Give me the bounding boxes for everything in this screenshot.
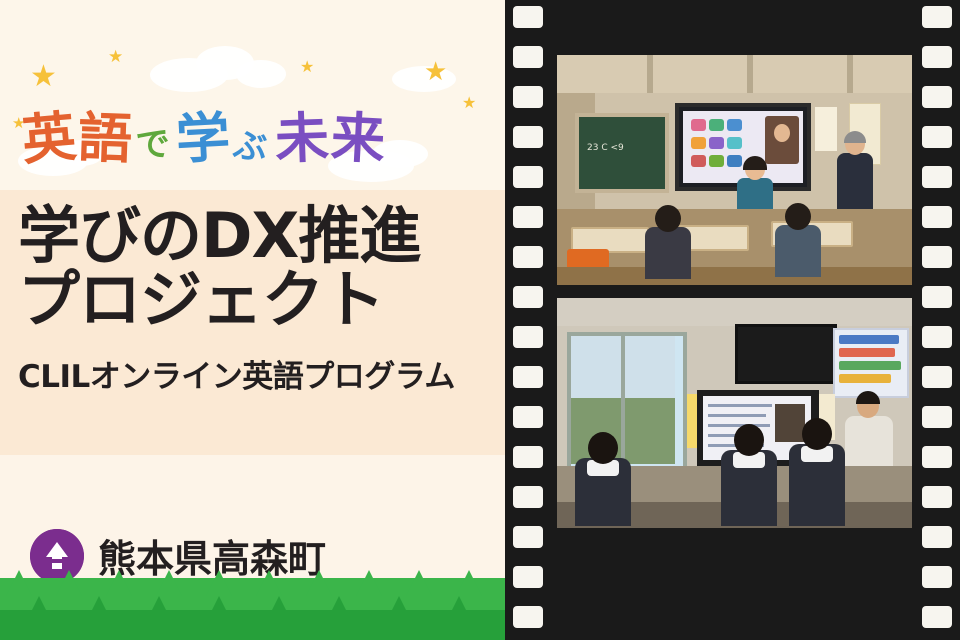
- film-perforation: [922, 6, 952, 28]
- board-row: [839, 361, 901, 370]
- slide-icon: [691, 155, 706, 167]
- slide-icon: [691, 119, 706, 131]
- student-figure: [575, 432, 631, 528]
- film-strip: 23 C <9: [505, 0, 960, 640]
- video-call-participant: [765, 116, 799, 164]
- headline-char-4: 学: [175, 111, 232, 168]
- grass-blade-dark: [448, 596, 470, 618]
- headline-char-5: ぶ: [232, 129, 268, 165]
- headline-char-3: で: [135, 127, 171, 163]
- student-head: [734, 424, 764, 456]
- film-perforation: [513, 326, 543, 348]
- board-row: [839, 374, 891, 383]
- star-icon: ★: [108, 48, 123, 65]
- student-body: [645, 227, 691, 279]
- page-title-line-2: プロジェクト: [18, 268, 508, 332]
- student-head: [802, 418, 832, 450]
- page-title-line-1: 学びのDX推進: [18, 204, 508, 268]
- slide-icon: [727, 137, 742, 149]
- board-row: [839, 348, 895, 357]
- board-row: [839, 335, 899, 344]
- student-head: [655, 205, 681, 232]
- handwriting-headline: 英 語 で 学 ぶ 未 来: [22, 86, 492, 166]
- film-perforation: [513, 526, 543, 548]
- slide-icon: [709, 155, 724, 167]
- film-perforation: [513, 406, 543, 428]
- student-body: [775, 225, 821, 277]
- slide-icon: [709, 137, 724, 149]
- grass-blade-dark: [28, 596, 50, 618]
- film-perforation: [513, 206, 543, 228]
- film-perforation: [513, 246, 543, 268]
- grass-blade: [406, 570, 432, 596]
- seated-student-figure: [645, 205, 691, 281]
- film-perforation: [922, 286, 952, 308]
- film-perforation: [922, 326, 952, 348]
- grass-blade: [6, 570, 32, 596]
- headline-char-1: 英: [20, 110, 79, 169]
- slide-icon: [691, 137, 706, 149]
- slide-text-line: [708, 414, 766, 417]
- film-perforation: [922, 166, 952, 188]
- film-perforation: [922, 206, 952, 228]
- film-perforation: [513, 366, 543, 388]
- film-perforation: [922, 606, 952, 628]
- film-perforation: [513, 606, 543, 628]
- film-perforation: [922, 406, 952, 428]
- film-perforations-left: [513, 0, 543, 640]
- cloud-shape: [236, 60, 286, 88]
- photo-junior-high-classroom: 中学校の教室で大型モニターを使った英語プログラムの様子: [557, 298, 912, 528]
- film-perforation: [922, 46, 952, 68]
- grass-blade-dark: [388, 596, 410, 618]
- headline-char-2: 語: [77, 111, 133, 167]
- film-perforation: [513, 566, 543, 588]
- chalkboard-text: 23 C <9: [587, 143, 624, 153]
- information-board: [833, 328, 909, 398]
- ceiling: [557, 55, 912, 93]
- grass-blade: [206, 570, 232, 596]
- film-perforation: [513, 126, 543, 148]
- slide-icon: [727, 119, 742, 131]
- grass-blade: [56, 570, 82, 596]
- grass-blade: [356, 570, 382, 596]
- photo-elementary-classroom: 23 C <9: [557, 55, 912, 285]
- film-perforation: [513, 166, 543, 188]
- grass-blade: [156, 570, 182, 596]
- ceiling-beam: [847, 55, 853, 93]
- film-perforation: [922, 446, 952, 468]
- film-perforation: [513, 446, 543, 468]
- headline-char-6: 未: [274, 111, 330, 167]
- grass-blade: [106, 570, 132, 596]
- chalkboard: 23 C <9: [575, 113, 669, 193]
- student-hair: [743, 156, 767, 170]
- poster-root: ★ ★ ★ ★ ★ ★ 英 語 で 学 ぶ 未 来 学びのDX推進 プロジェクト…: [0, 0, 960, 640]
- photo-2-scene: [557, 298, 912, 528]
- headline-char-7: 来: [330, 111, 387, 168]
- grass-blade-dark: [148, 596, 170, 618]
- film-perforation: [513, 6, 543, 28]
- film-perforation: [922, 366, 952, 388]
- grass-blade: [456, 570, 482, 596]
- page-subtitle: CLILオンライン英語プログラム: [18, 351, 508, 396]
- film-perforation: [513, 486, 543, 508]
- teacher-hair: [844, 131, 866, 143]
- grass-blade: [306, 570, 332, 596]
- film-perforation: [922, 126, 952, 148]
- grass-blade-dark: [328, 596, 350, 618]
- film-perforation: [513, 286, 543, 308]
- photo-1-scene: 23 C <9: [557, 55, 912, 285]
- grass-blade-dark: [268, 596, 290, 618]
- film-perforation: [922, 486, 952, 508]
- grass-blade-dark: [208, 596, 230, 618]
- film-perforations-right: [922, 0, 952, 640]
- star-icon: ★: [424, 58, 447, 84]
- seated-student-figure: [775, 203, 821, 281]
- film-perforation: [922, 246, 952, 268]
- wall-monitor: [735, 324, 837, 384]
- title-block: 学びのDX推進 プロジェクト CLILオンライン英語プログラム: [18, 204, 508, 396]
- student-figure: [789, 418, 845, 528]
- slide-text-line: [708, 404, 772, 407]
- film-perforation: [922, 566, 952, 588]
- student-head: [785, 203, 811, 230]
- ceiling-beam: [747, 55, 753, 93]
- film-perforation: [922, 86, 952, 108]
- participant-head: [774, 124, 790, 142]
- film-perforation: [513, 46, 543, 68]
- student-figure: [721, 424, 777, 528]
- ceiling-beam: [647, 55, 653, 93]
- student-head: [588, 432, 618, 464]
- slide-icon: [709, 119, 724, 131]
- grass-blade-dark: [88, 596, 110, 618]
- ceiling: [557, 298, 912, 326]
- grass-blade: [256, 570, 282, 596]
- star-icon: ★: [300, 60, 314, 76]
- film-perforation: [922, 526, 952, 548]
- film-perforation: [513, 86, 543, 108]
- grass-shadow-band: [0, 610, 520, 640]
- desk-area: [557, 209, 912, 285]
- floor: [557, 267, 912, 285]
